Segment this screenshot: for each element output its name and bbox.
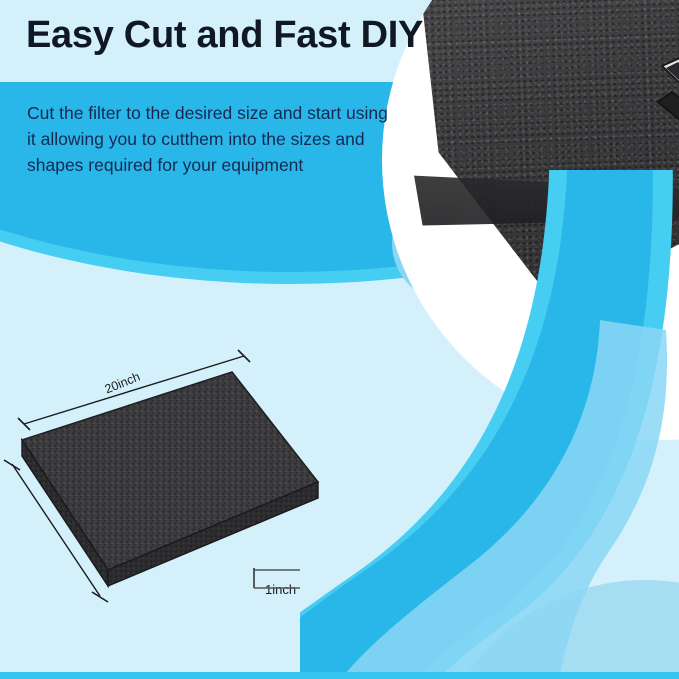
foam-pad-illustration xyxy=(0,330,340,630)
page-title: Easy Cut and Fast DIY xyxy=(26,14,423,57)
description-line-3: shapes required for your equipment xyxy=(27,152,447,178)
scissors-icon xyxy=(654,56,679,286)
bottom-accent-strip xyxy=(0,672,679,679)
product-feature-poster: 20inch 20inch 1inch Easy Cut and Fast DI… xyxy=(0,0,679,679)
description-text: Cut the filter to the desired size and s… xyxy=(27,100,447,178)
description-line-2: it allowing you to cutthem into the size… xyxy=(27,126,447,152)
description-line-1: Cut the filter to the desired size and s… xyxy=(27,100,447,126)
decorative-circle-bottom xyxy=(430,580,679,679)
photo-scissors-cutting-foam xyxy=(382,0,679,440)
photo-inner xyxy=(382,0,679,440)
